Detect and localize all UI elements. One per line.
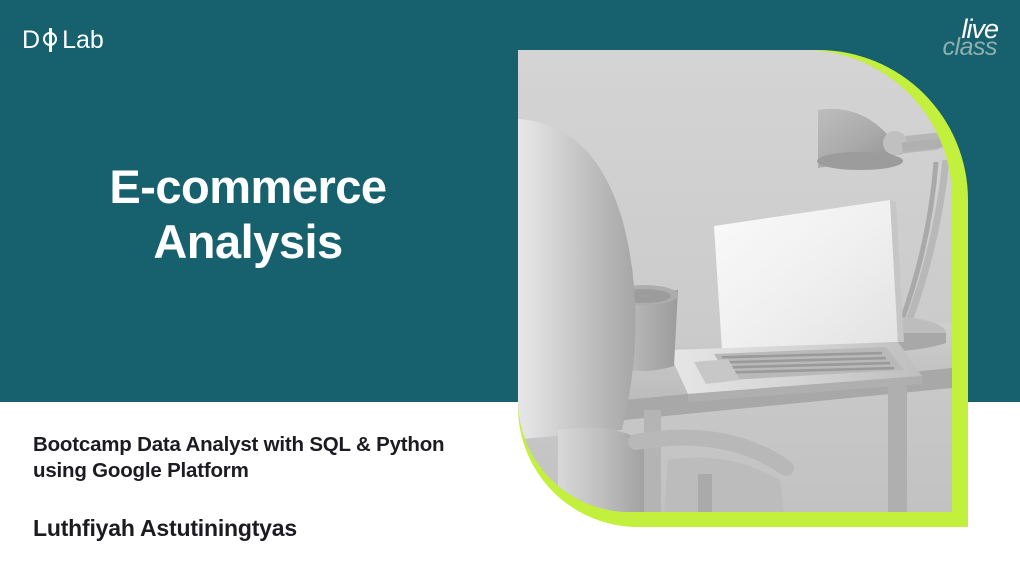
page-title: E-commerce Analysis bbox=[28, 160, 468, 270]
desk-leg-right bbox=[888, 380, 907, 512]
dqlab-logo-letters-lab: Lab bbox=[62, 28, 104, 53]
dqlab-logo-letter-d: D bbox=[22, 28, 40, 53]
liveclass-logo-class: class bbox=[943, 35, 997, 60]
author-name: Luthfiyah Astutiningtyas bbox=[33, 515, 483, 543]
footer-block: Bootcamp Data Analyst with SQL & Python … bbox=[33, 432, 483, 543]
laptop-screen bbox=[714, 200, 898, 350]
chair-post bbox=[698, 474, 712, 512]
title-block: E-commerce Analysis bbox=[28, 160, 468, 270]
liveclass-logo: live class bbox=[924, 16, 998, 68]
dqlab-logo: D Lab bbox=[22, 25, 104, 55]
course-subtitle: Bootcamp Data Analyst with SQL & Python … bbox=[33, 432, 483, 483]
dqlab-q-ring-icon bbox=[41, 30, 61, 50]
presentation-slide: D Lab live class E-commerce Analysis Boo… bbox=[0, 0, 1020, 571]
desk-scene-illustration bbox=[518, 50, 952, 512]
q-ring-bar bbox=[49, 28, 51, 52]
hero-photo bbox=[518, 50, 952, 512]
desk-leg-left bbox=[644, 410, 661, 512]
lamp-shade-rim bbox=[817, 152, 903, 170]
